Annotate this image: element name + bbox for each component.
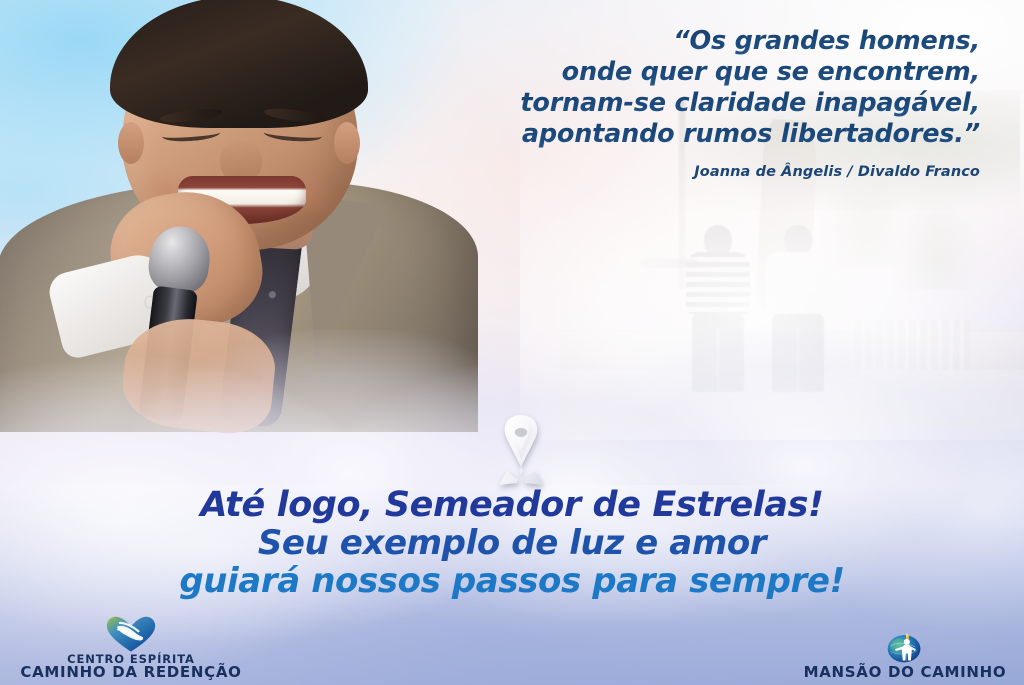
logo-mansao-do-caminho: MANSÃO DO CAMINHO xyxy=(790,626,1020,679)
memorial-poster: “Os grandes homens, onde quer que se enc… xyxy=(0,0,1024,685)
logo-left-text: CENTRO ESPÍRITA CAMINHO DA REDENÇÃO xyxy=(20,653,241,679)
ear-right xyxy=(334,122,360,164)
quote-line-3: tornam-se claridade inapagável, xyxy=(420,88,980,119)
logo-centro-espirita: CENTRO ESPÍRITA CAMINHO DA REDENÇÃO xyxy=(6,613,256,679)
headline-line-2: Seu exemplo de luz e amor xyxy=(0,524,1024,562)
headline-line-3: guiará nossos passos para sempre! xyxy=(0,562,1024,600)
headline-line-1: Até logo, Semeador de Estrelas! xyxy=(0,486,1024,524)
quote-attribution: Joanna de Ângelis / Divaldo Franco xyxy=(420,164,980,180)
quote-line-4: apontando rumos libertadores.” xyxy=(420,119,980,150)
logo-right-text: MANSÃO DO CAMINHO xyxy=(804,666,1007,679)
quote-line-2: onde quer que se encontrem, xyxy=(420,57,980,88)
quote-block: “Os grandes homens, onde quer que se enc… xyxy=(420,26,980,180)
quote-line-1: “Os grandes homens, xyxy=(420,26,980,57)
heart-hands-icon xyxy=(105,613,157,653)
hair xyxy=(110,0,368,128)
ear-left xyxy=(118,122,144,164)
logo-right-line-2: MANSÃO DO CAMINHO xyxy=(804,666,1007,679)
globe-figure-flame-icon xyxy=(885,626,925,666)
headline-block: Até logo, Semeador de Estrelas! Seu exem… xyxy=(0,486,1024,600)
logo-left-line-2: CAMINHO DA REDENÇÃO xyxy=(20,666,241,679)
white-ribbon-icon xyxy=(487,409,555,489)
